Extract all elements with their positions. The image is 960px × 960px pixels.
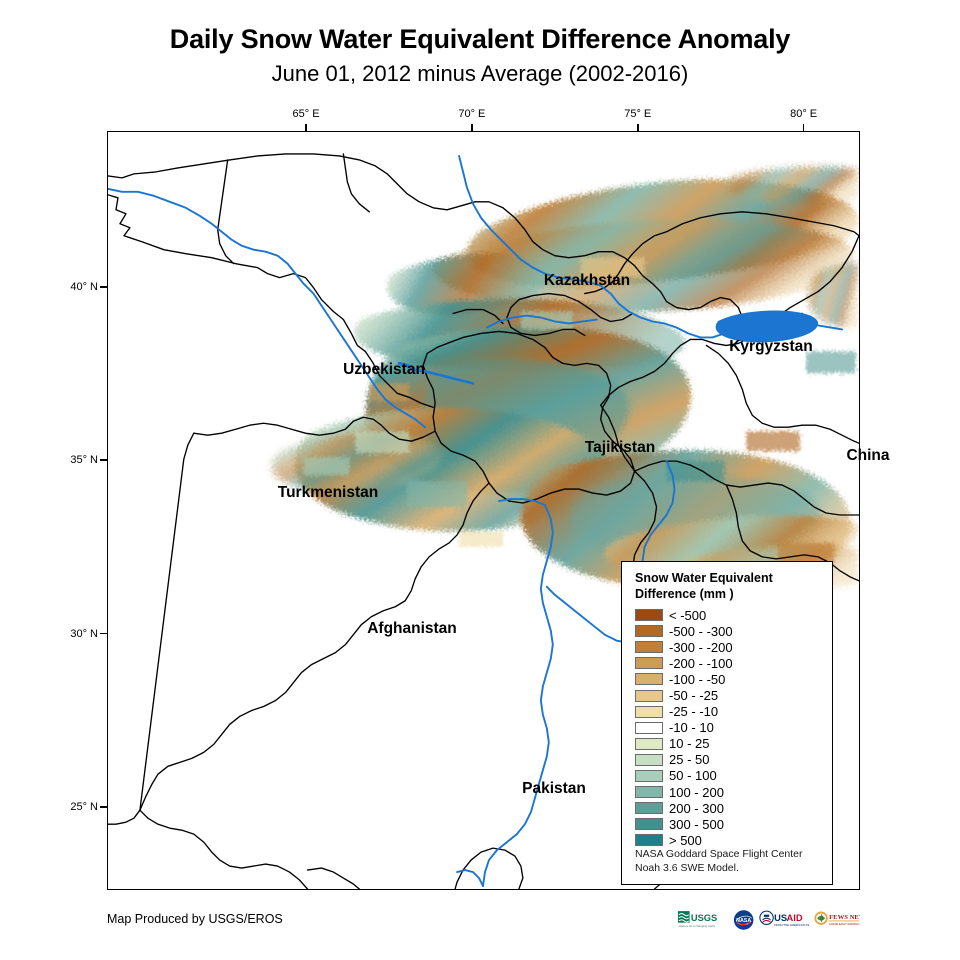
legend-label: 300 - 500 — [669, 818, 724, 831]
legend-label: -500 - -300 — [669, 625, 733, 638]
lat-tick-label: 40° N — [54, 281, 98, 293]
legend-label: -200 - -100 — [669, 657, 733, 670]
svg-text:NASA: NASA — [736, 918, 751, 924]
legend-credit: NASA Goddard Space Flight Center Noah 3.… — [635, 848, 803, 875]
svg-text:science for a changing world: science for a changing world — [678, 924, 715, 928]
legend-items: < -500-500 - -300-300 - -200-200 - -100-… — [635, 607, 832, 848]
lat-tick-mark — [100, 286, 107, 288]
legend-label: 10 - 25 — [669, 737, 709, 750]
fewsnet-logo: FEWS NET FAMINE EARLY WARNING SYSTEMS NE… — [814, 908, 860, 932]
legend-title-line1: Snow Water Equivalent — [635, 570, 820, 586]
legend-swatch — [635, 770, 663, 782]
legend-swatch — [635, 706, 663, 718]
legend-row: -100 - -50 — [635, 671, 832, 687]
legend-label: -25 - -10 — [669, 705, 718, 718]
legend-swatch — [635, 754, 663, 766]
lon-tick-label: 80° E — [790, 108, 817, 120]
page-subtitle: June 01, 2012 minus Average (2002-2016) — [0, 59, 960, 89]
page-title: Daily Snow Water Equivalent Difference A… — [0, 22, 960, 56]
lon-tick-mark — [637, 124, 639, 131]
legend-label: 200 - 300 — [669, 802, 724, 815]
legend-row: -50 - -25 — [635, 687, 832, 703]
legend-label: -100 - -50 — [669, 673, 725, 686]
lat-tick-mark — [100, 806, 107, 808]
legend-swatch — [635, 738, 663, 750]
legend-swatch — [635, 657, 663, 669]
legend-swatch — [635, 673, 663, 685]
usaid-logo: US AID FROM THE AMERICAN PEOPLE — [759, 908, 809, 932]
lat-tick-mark — [100, 633, 107, 635]
lat-tick-mark — [100, 459, 107, 461]
legend-row: -25 - -10 — [635, 704, 832, 720]
nasa-logo: NASA — [733, 908, 754, 932]
svg-text:FEWS NET: FEWS NET — [829, 914, 860, 921]
legend-swatch — [635, 818, 663, 830]
legend-label: -300 - -200 — [669, 641, 733, 654]
legend-row: -500 - -300 — [635, 623, 832, 639]
legend-swatch — [635, 722, 663, 734]
legend-swatch — [635, 609, 663, 621]
legend-label: > 500 — [669, 834, 702, 847]
svg-text:AID: AID — [787, 913, 803, 923]
logo-bar: USGS science for a changing world NASA U… — [678, 906, 860, 934]
legend-row: 50 - 100 — [635, 768, 832, 784]
svg-text:FROM THE AMERICAN PEOPLE: FROM THE AMERICAN PEOPLE — [774, 923, 809, 927]
legend-row: 300 - 500 — [635, 816, 832, 832]
lon-tick-label: 70° E — [458, 108, 485, 120]
legend-label: 50 - 100 — [669, 769, 717, 782]
footer-credit: Map Produced by USGS/EROS — [107, 912, 283, 926]
legend-label: -10 - 10 — [669, 721, 714, 734]
legend-row: -200 - -100 — [635, 655, 832, 671]
map-legend: Snow Water Equivalent Difference (mm ) <… — [621, 561, 833, 885]
lat-tick-label: 30° N — [54, 628, 98, 640]
legend-title-line2: Difference (mm ) — [635, 586, 820, 602]
legend-swatch — [635, 625, 663, 637]
legend-row: 100 - 200 — [635, 784, 832, 800]
lon-tick-mark — [471, 124, 473, 131]
legend-label: < -500 — [669, 609, 706, 622]
svg-text:FAMINE EARLY WARNING SYSTEMS N: FAMINE EARLY WARNING SYSTEMS NETWORK — [829, 923, 860, 926]
lat-tick-label: 25° N — [54, 801, 98, 813]
lon-tick-mark — [305, 124, 307, 131]
title-block: Daily Snow Water Equivalent Difference A… — [0, 22, 960, 89]
lon-tick-label: 75° E — [624, 108, 651, 120]
legend-row: 10 - 25 — [635, 736, 832, 752]
legend-title: Snow Water Equivalent Difference (mm ) — [635, 570, 820, 602]
legend-row: < -500 — [635, 607, 832, 623]
legend-label: 100 - 200 — [669, 786, 724, 799]
legend-swatch — [635, 641, 663, 653]
usgs-logo: USGS science for a changing world — [678, 909, 728, 931]
legend-swatch — [635, 690, 663, 702]
legend-credit-line2: Noah 3.6 SWE Model. — [635, 862, 803, 876]
legend-swatch — [635, 802, 663, 814]
svg-text:US: US — [774, 913, 787, 923]
swe-anomaly-raster — [272, 167, 858, 592]
legend-swatch — [635, 834, 663, 846]
lat-tick-label: 35° N — [54, 454, 98, 466]
legend-row: 25 - 50 — [635, 752, 832, 768]
legend-label: -50 - -25 — [669, 689, 718, 702]
legend-row: -300 - -200 — [635, 639, 832, 655]
legend-row: 200 - 300 — [635, 800, 832, 816]
legend-row: > 500 — [635, 832, 832, 848]
legend-row: -10 - 10 — [635, 720, 832, 736]
lon-tick-mark — [803, 124, 805, 131]
legend-swatch — [635, 786, 663, 798]
legend-label: 25 - 50 — [669, 753, 709, 766]
svg-text:USGS: USGS — [691, 913, 717, 923]
legend-credit-line1: NASA Goddard Space Flight Center — [635, 848, 803, 862]
lon-tick-label: 65° E — [293, 108, 320, 120]
